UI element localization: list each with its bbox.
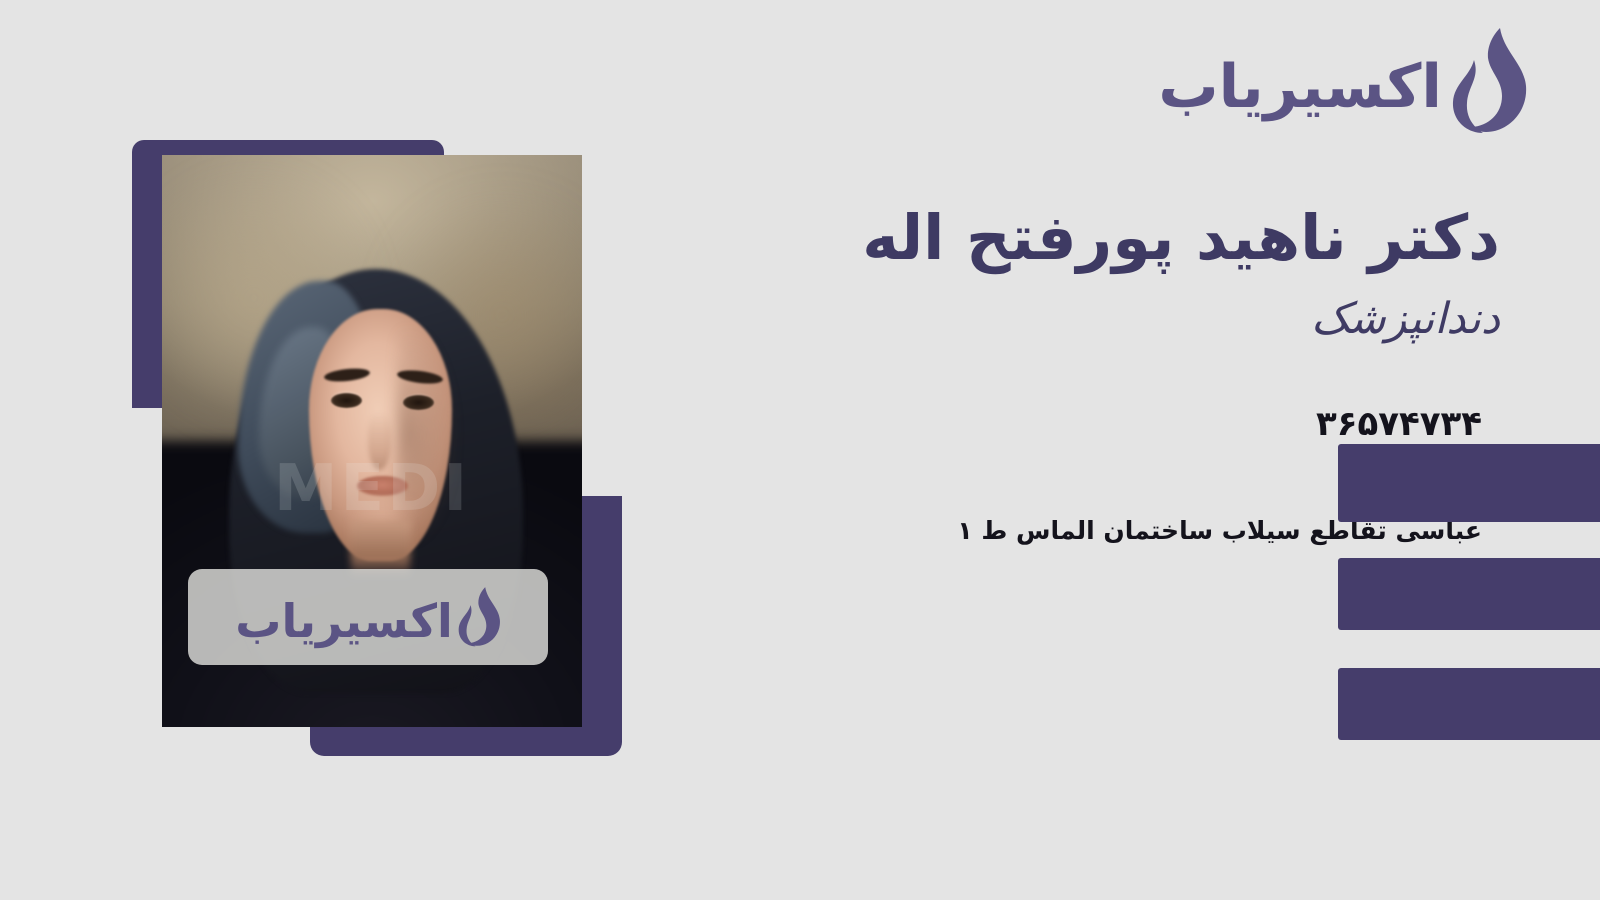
accent-bar-2 (1338, 558, 1600, 630)
brand-logo[interactable]: اکسیریاب (1158, 26, 1528, 136)
accent-bar-3 (1338, 668, 1600, 740)
portrait-eye-left (331, 393, 362, 408)
photo-composition: MEDI اکسیریاب (132, 140, 622, 756)
doctor-name: دکتر ناهید پورفتح اله (740, 200, 1500, 276)
accent-bar-1 (1338, 444, 1600, 522)
doctor-photo: MEDI اکسیریاب (162, 155, 582, 727)
flame-droplet-icon (457, 584, 501, 650)
brand-name: اکسیریاب (1158, 57, 1442, 117)
doctor-phone[interactable]: ۳۶۵۷۴۷۳۴ (740, 407, 1500, 441)
portrait-lips (357, 476, 407, 495)
business-card-canvas: اکسیریاب (0, 0, 1600, 900)
watermark-badge-text: اکسیریاب (235, 598, 453, 644)
portrait-nose (368, 412, 392, 469)
doctor-specialty: دندانپزشک (740, 294, 1500, 346)
flame-droplet-icon (1450, 26, 1528, 136)
watermark-badge: اکسیریاب (188, 569, 548, 665)
